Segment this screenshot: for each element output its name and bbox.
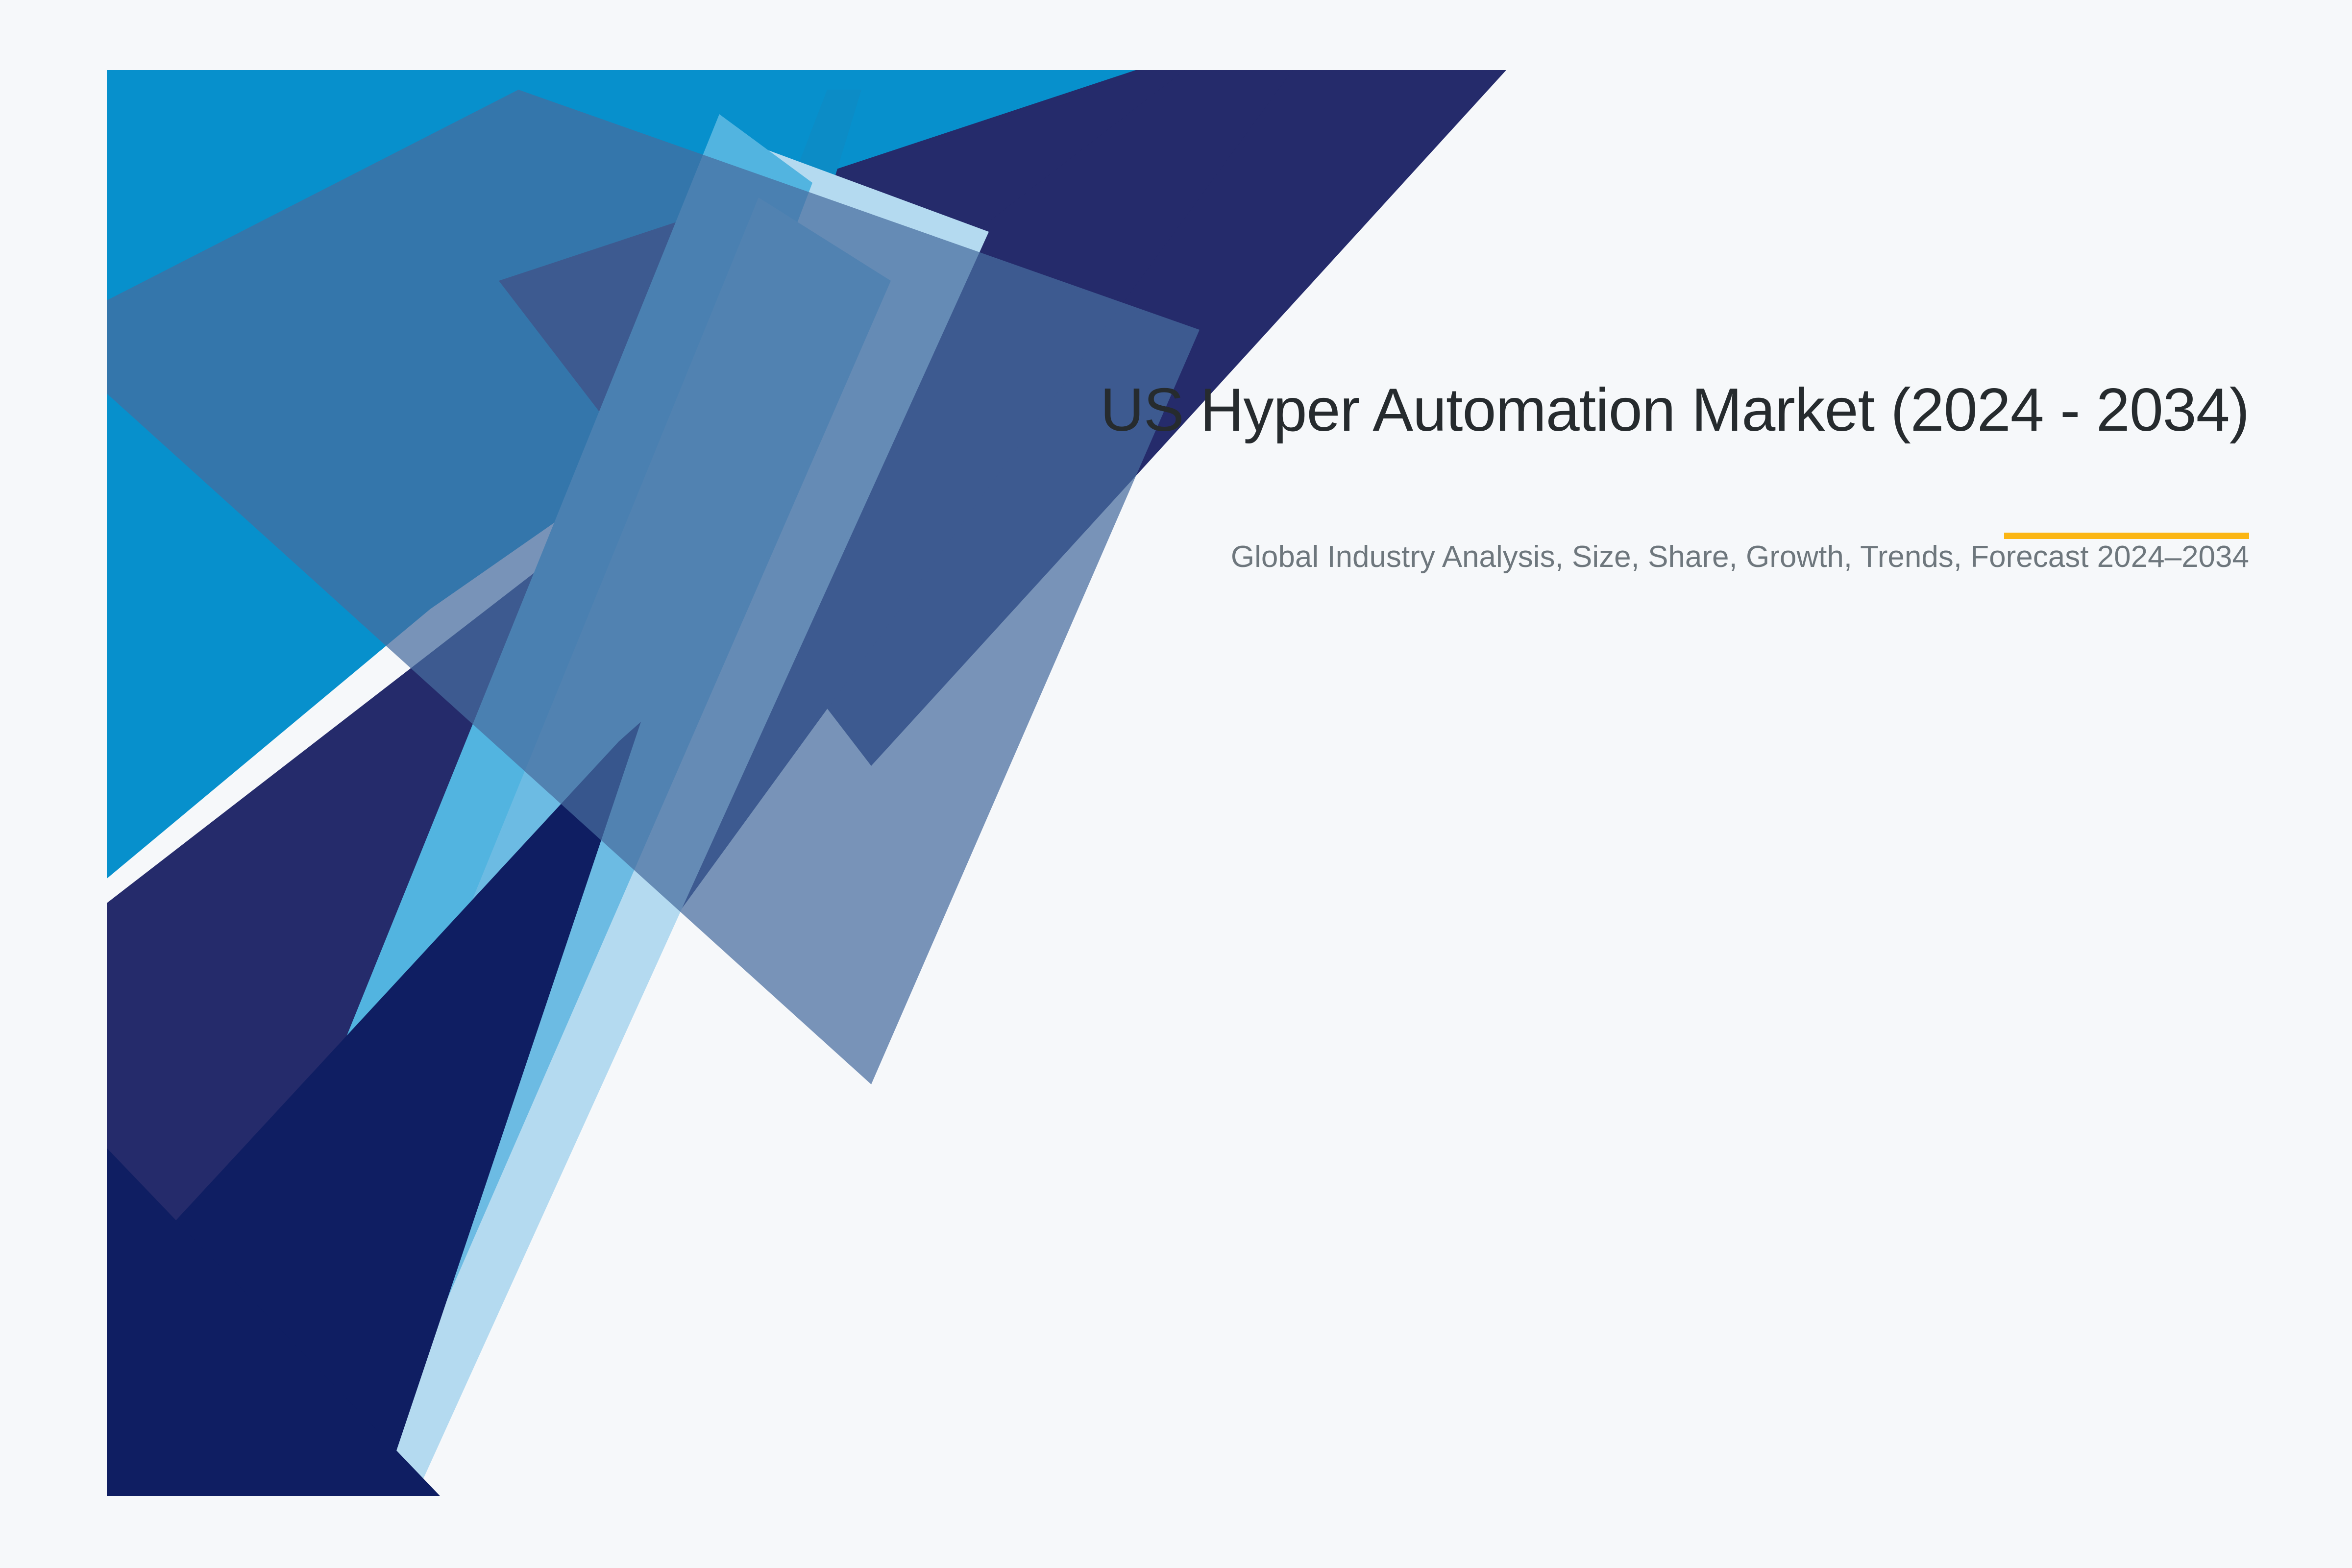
cover-text-column: US Hyper Automation Market (2024 - 2034)… [833,372,2249,578]
cover-artwork [107,70,1506,1496]
title-accent-underline [2004,533,2249,539]
page-subtitle: Global Industry Analysis, Size, Share, G… [833,448,2249,578]
page-title: US Hyper Automation Market (2024 - 2034) [833,372,2249,448]
abstract-polygon-graphic [107,70,1506,1496]
slide-canvas: US Hyper Automation Market (2024 - 2034)… [0,0,2352,1568]
title-wrapper: US Hyper Automation Market (2024 - 2034) [833,372,2249,448]
